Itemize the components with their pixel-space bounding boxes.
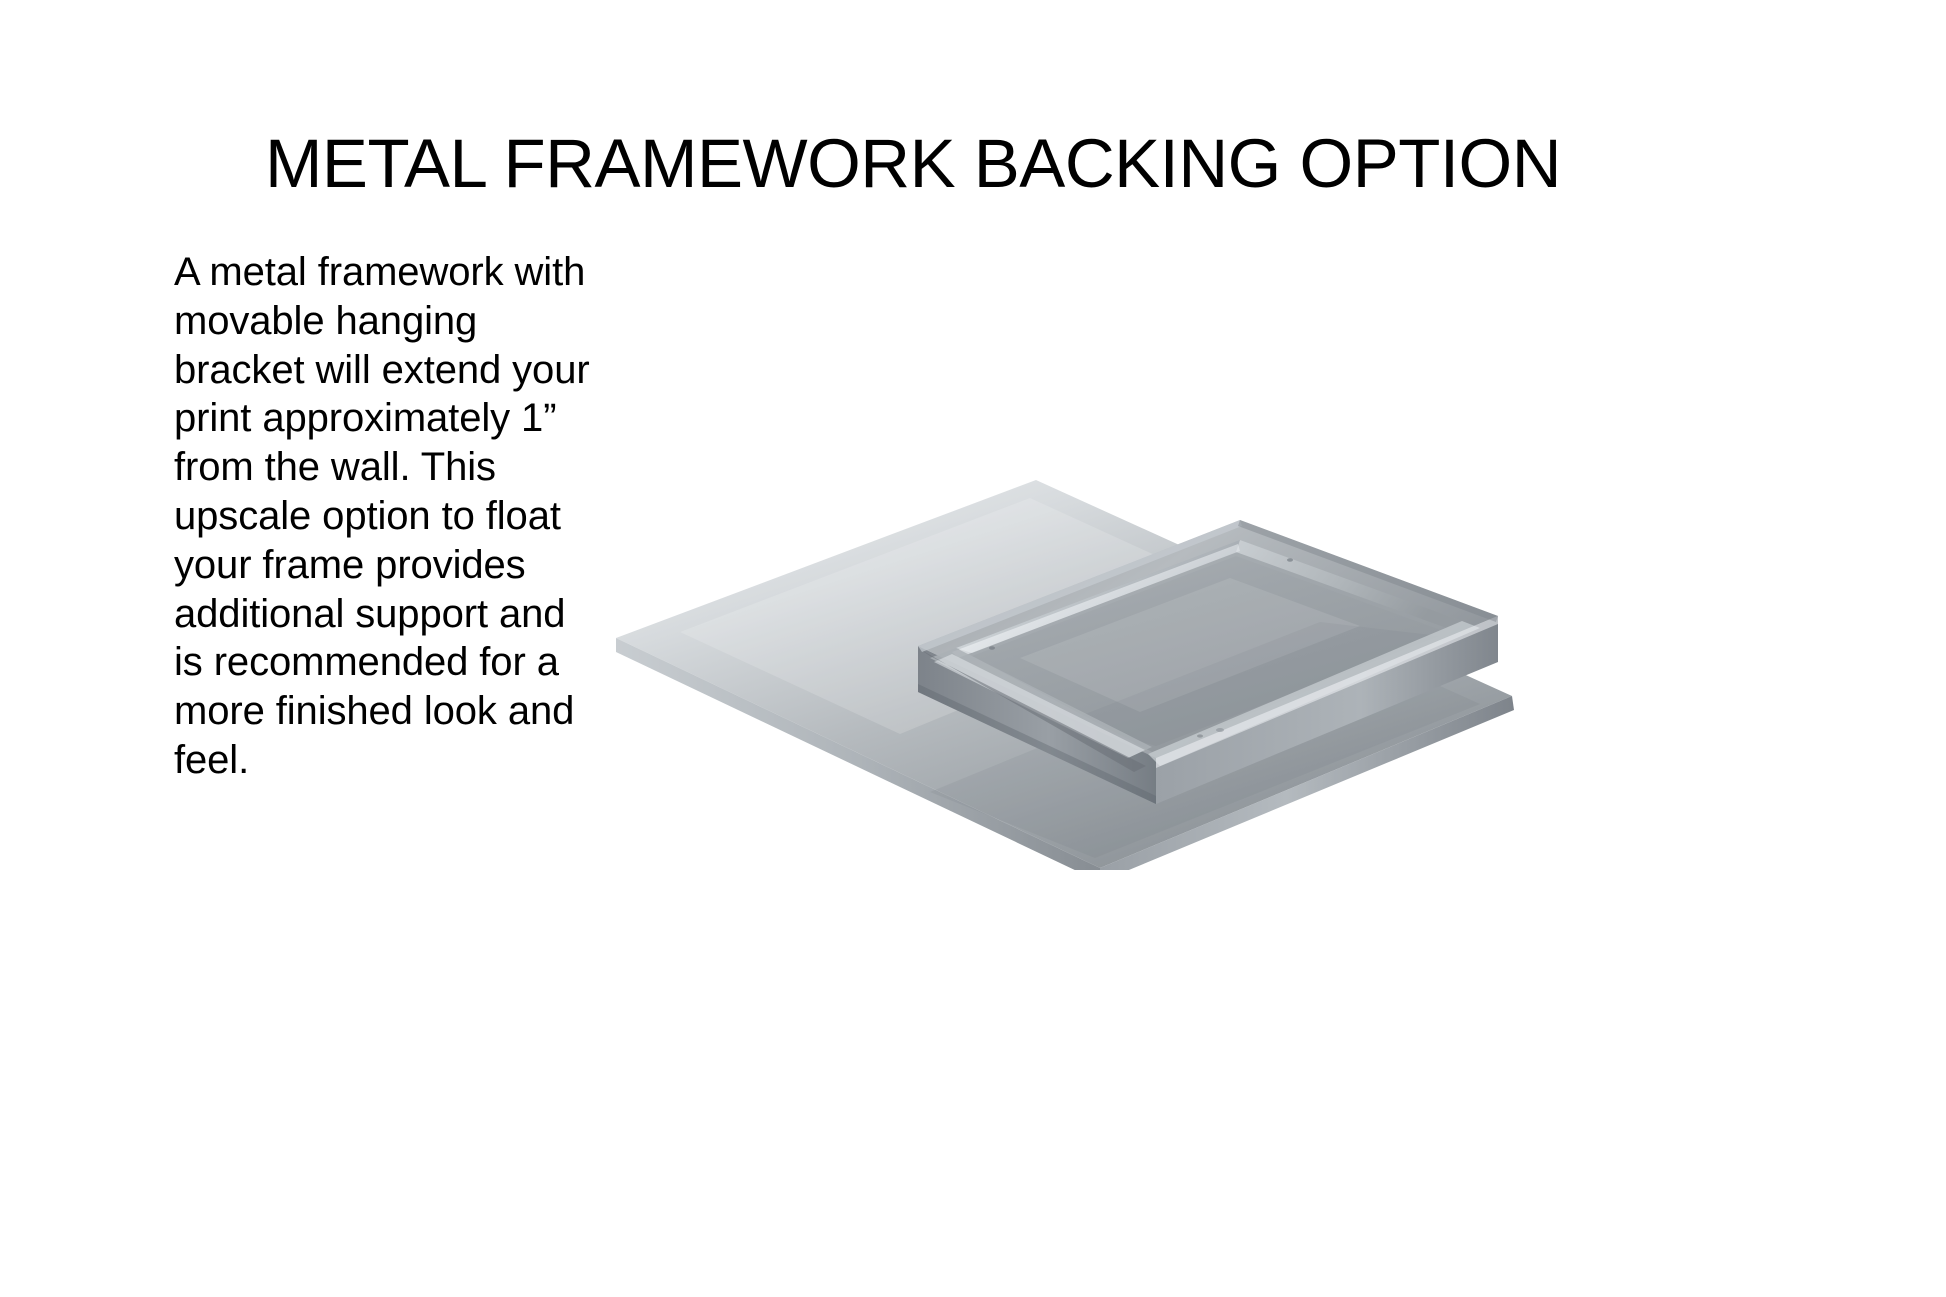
metal-framework-backing-illustration bbox=[600, 400, 1530, 870]
slide-canvas: METAL FRAMEWORK BACKING OPTION A metal f… bbox=[0, 0, 1946, 1297]
page-title: METAL FRAMEWORK BACKING OPTION bbox=[0, 124, 1946, 204]
body-paragraph: A metal framework with movable hanging b… bbox=[174, 248, 604, 785]
product-image bbox=[600, 400, 1530, 870]
